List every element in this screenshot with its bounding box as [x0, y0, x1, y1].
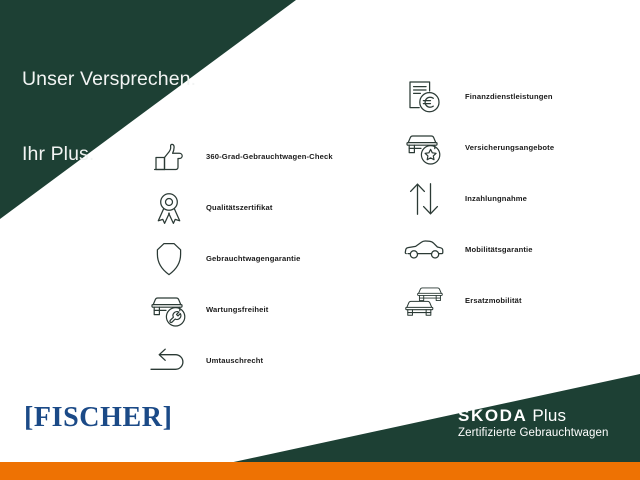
feature-item-trade-in: Inzahlungnahme — [403, 173, 554, 224]
feature-label: Finanzdienstleistungen — [465, 92, 553, 101]
feature-label: Gebrauchtwagengarantie — [206, 254, 300, 263]
award-rosette-icon — [148, 187, 190, 229]
feature-item-mobility-guarantee: Mobilitätsgarantie — [403, 224, 554, 275]
feature-label: Wartungsfreiheit — [206, 305, 268, 314]
thumbs-up-icon — [148, 136, 190, 178]
feature-label: Qualitätszertifikat — [206, 203, 273, 212]
feature-item-warranty: Gebrauchtwagengarantie — [148, 233, 333, 284]
feature-item-insurance-offers: Versicherungsangebote — [403, 122, 554, 173]
feature-label: Versicherungsangebote — [465, 143, 554, 152]
two-cars-icon — [403, 280, 445, 322]
feature-item-360-check: 360-Grad-Gebrauchtwagen-Check — [148, 131, 333, 182]
shield-icon — [148, 238, 190, 280]
feature-item-quality-certificate: Qualitätszertifikat — [148, 182, 333, 233]
return-arrow-icon — [148, 340, 190, 382]
feature-label: Ersatzmobilität — [465, 296, 522, 305]
feature-item-maintenance-free: Wartungsfreiheit — [148, 284, 333, 335]
headline-line-1: Unser Versprechen. — [22, 67, 196, 92]
brand-logo: ŠKODA Plus Zertifizierte Gebrauchtwagen — [458, 406, 608, 441]
brand-logo-title: ŠKODA Plus — [458, 406, 608, 426]
feature-item-financial-services: Finanzdienstleistungen — [403, 71, 554, 122]
feature-list-left: 360-Grad-Gebrauchtwagen-Check Qualitätsz… — [148, 131, 333, 386]
feature-label: Umtauschrecht — [206, 356, 263, 365]
up-down-arrows-icon — [403, 178, 445, 220]
feature-label: 360-Grad-Gebrauchtwagen-Check — [206, 152, 333, 161]
brand-logo-plus: Plus — [527, 406, 566, 425]
feature-item-exchange-right: Umtauschrecht — [148, 335, 333, 386]
feature-item-replacement-mobility: Ersatzmobilität — [403, 275, 554, 326]
orange-bottom-bar — [0, 462, 640, 480]
document-euro-icon — [403, 76, 445, 118]
dealer-logo: [FISCHER] — [24, 402, 173, 434]
feature-label: Mobilitätsgarantie — [465, 245, 533, 254]
car-wrench-icon — [148, 289, 190, 331]
car-star-icon — [403, 127, 445, 169]
promo-banner: Unser Versprechen. Ihr Plus. 360-Grad-Ge… — [0, 0, 640, 480]
feature-list-right: Finanzdienstleistungen Versicherungsange… — [403, 71, 554, 326]
brand-logo-mark: ŠKODA — [458, 406, 527, 425]
feature-label: Inzahlungnahme — [465, 194, 527, 203]
brand-logo-subtitle: Zertifizierte Gebrauchtwagen — [458, 426, 608, 441]
car-side-icon — [403, 229, 445, 271]
